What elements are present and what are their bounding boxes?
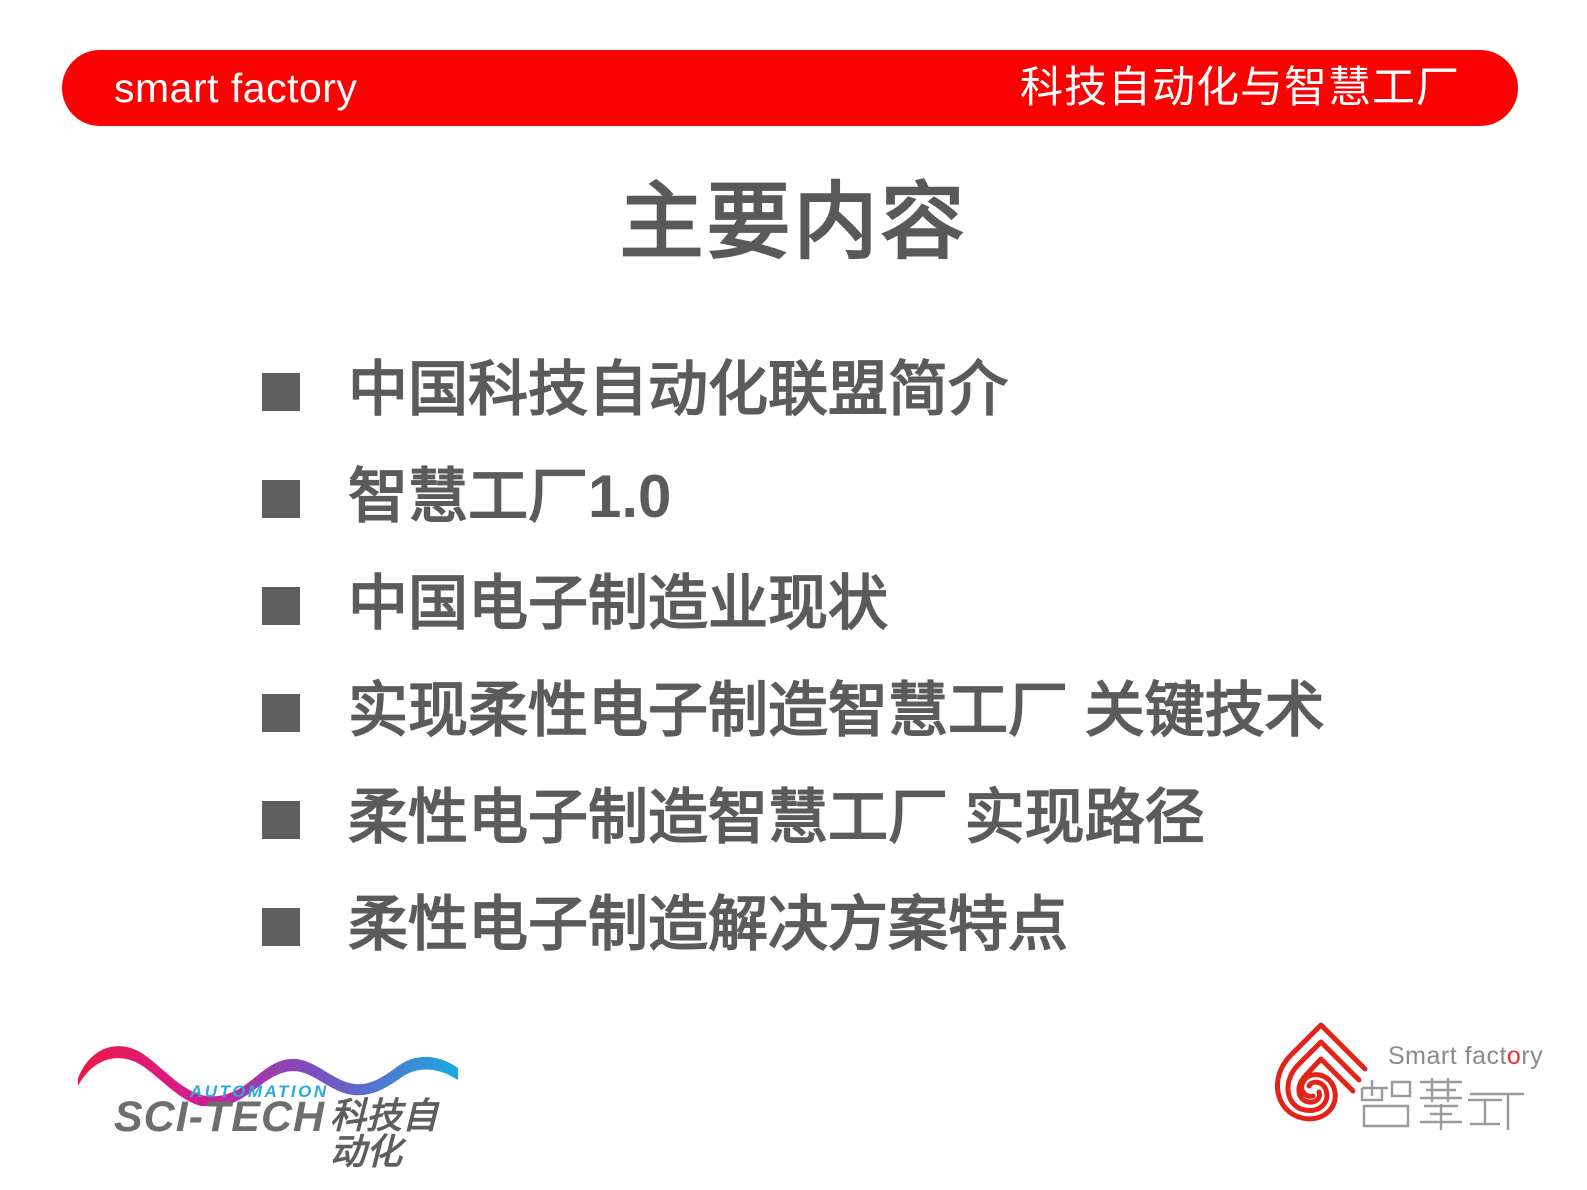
list-item: 智慧工厂1.0 (262, 443, 1542, 550)
list-item-label: 中国科技自动化联盟简介 (348, 360, 1008, 420)
sf-latin-post: ry (1521, 1042, 1543, 1070)
list-item: 柔性电子制造智慧工厂 实现路径 (262, 764, 1542, 871)
list-item-label: 智慧工厂1.0 (348, 467, 671, 527)
square-bullet-icon (262, 480, 300, 518)
list-item-label: 柔性电子制造解决方案特点 (348, 895, 1068, 955)
list-item: 中国电子制造业现状 (262, 550, 1542, 657)
list-item-label: 实现柔性电子制造智慧工厂 关键技术 (348, 681, 1325, 741)
list-item-label: 中国电子制造业现状 (348, 574, 888, 634)
sf-latin-accent: o (1507, 1042, 1521, 1070)
header-banner: smart factory 科技自动化与智慧工厂 (62, 50, 1518, 126)
scitech-chinese-label: 科技自动化 (330, 1098, 468, 1170)
square-bullet-icon (262, 587, 300, 625)
square-bullet-icon (262, 908, 300, 946)
agenda-list: 中国科技自动化联盟简介 智慧工厂1.0 中国电子制造业现状 实现柔性电子制造智慧… (262, 336, 1542, 978)
zhihui-gongchang-chinese-icon (1358, 1076, 1526, 1132)
sci-tech-automation-logo: AUTOMATION SCI-TECH 科技自动化 (78, 1028, 468, 1136)
list-item: 柔性电子制造解决方案特点 (262, 871, 1542, 978)
list-item: 实现柔性电子制造智慧工厂 关键技术 (262, 657, 1542, 764)
square-bullet-icon (262, 694, 300, 732)
banner-brand-label: smart factory (114, 68, 357, 109)
sf-latin-pre: Smart fact (1388, 1042, 1507, 1070)
square-bullet-icon (262, 373, 300, 411)
scitech-wordmark: SCI-TECH (114, 1096, 325, 1139)
banner-chinese-title: 科技自动化与智慧工厂 (1020, 67, 1460, 110)
list-item-label: 柔性电子制造智慧工厂 实现路径 (348, 788, 1205, 848)
square-bullet-icon (262, 801, 300, 839)
page-title: 主要内容 (0, 178, 1587, 266)
list-item: 中国科技自动化联盟简介 (262, 336, 1542, 443)
smart-factory-latin-label: Smart factory (1388, 1044, 1543, 1069)
smart-factory-logo: Smart factory (1262, 1008, 1524, 1136)
